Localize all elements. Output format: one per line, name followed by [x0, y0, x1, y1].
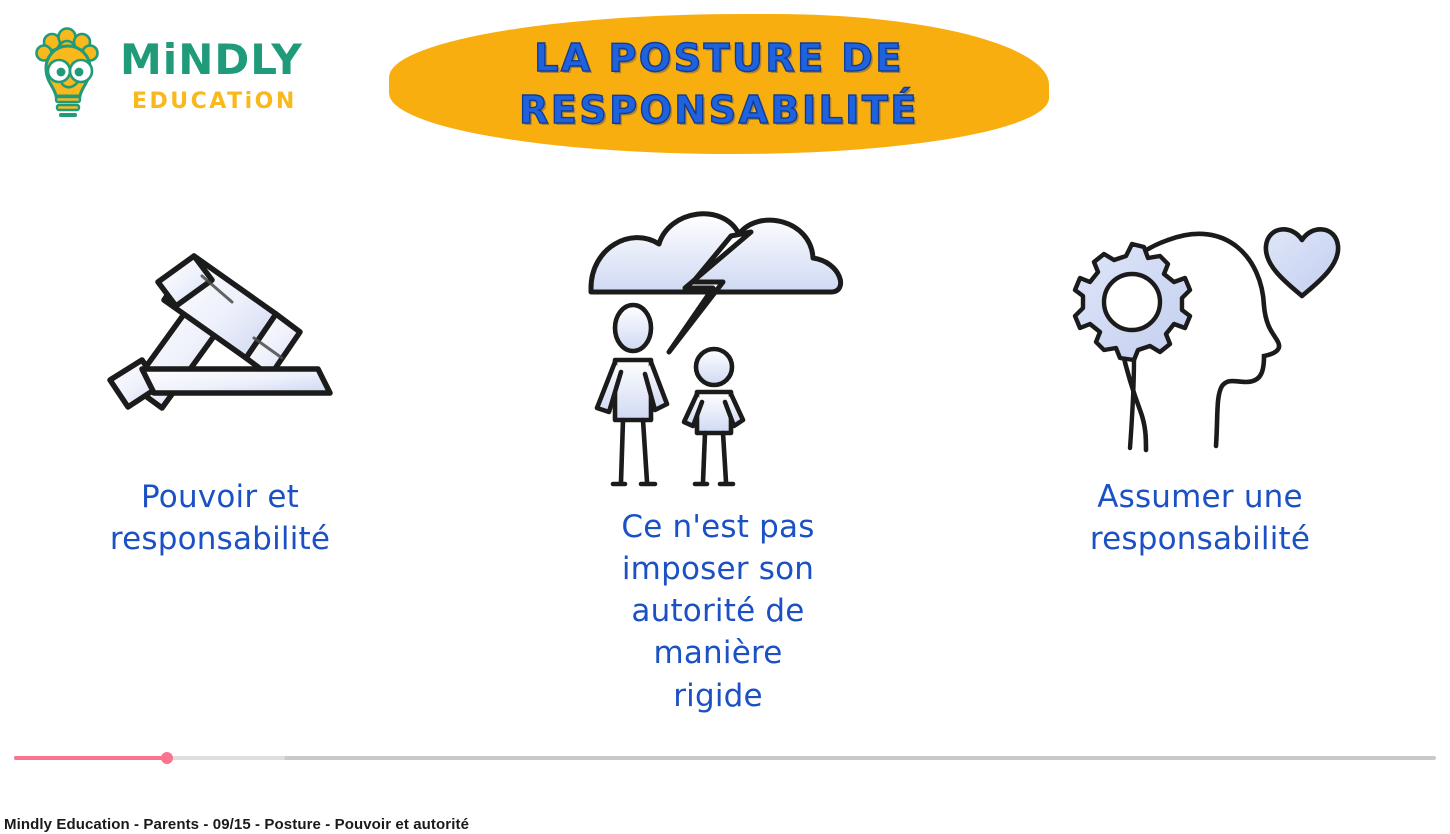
caption-line: Assumer une — [1090, 476, 1310, 518]
caption-line: autorité de — [621, 590, 814, 632]
storm-cloud-parent-child-icon — [573, 196, 863, 496]
caption-column-2: Ce n'est pas imposer son autorité de man… — [621, 506, 814, 717]
slide-canvas: MiNDLY EDUCATiON LA POSTURE DE RESPONSAB… — [0, 0, 1450, 748]
slide-title-banner: LA POSTURE DE RESPONSABiLiTÉ — [389, 14, 1049, 154]
gavel-icon — [90, 210, 350, 460]
video-title: Mindly Education - Parents - 09/15 - Pos… — [4, 816, 469, 833]
caption-column-1: Pouvoir et responsabilité — [110, 476, 330, 560]
caption-line: responsabilité — [1090, 518, 1310, 560]
lightbulb-mascot-icon — [22, 26, 118, 122]
video-player-controls: 0:36 / 5:31 — [0, 748, 1450, 814]
caption-line: manière — [621, 632, 814, 674]
mindly-education-logo: MiNDLY EDUCATiON — [22, 20, 322, 125]
mindly-wordmark: MiNDLY EDUCATiON — [120, 28, 320, 120]
app-root: MiNDLY EDUCATiON LA POSTURE DE RESPONSAB… — [0, 0, 1450, 834]
caption-column-3: Assumer une responsabilité — [1090, 476, 1310, 560]
caption-line: Pouvoir et — [110, 476, 330, 518]
progress-bar[interactable] — [14, 756, 1436, 760]
content-column-power-responsibility: Pouvoir et responsabilité — [10, 210, 430, 560]
content-column-not-rigid-authority: Ce n'est pas imposer son autorité de man… — [508, 196, 928, 717]
slide-title-line-1: LA POSTURE DE — [534, 35, 904, 81]
svg-text:MiNDLY: MiNDLY — [120, 35, 303, 84]
caption-line: imposer son — [621, 548, 814, 590]
head-gear-heart-icon — [1050, 210, 1350, 460]
caption-line: rigide — [621, 675, 814, 717]
content-column-assume-responsibility: Assumer une responsabilité — [990, 210, 1410, 560]
slide-title-line-2: RESPONSABiLiTÉ — [519, 87, 919, 133]
caption-line: responsabilité — [110, 518, 330, 560]
svg-text:EDUCATiON: EDUCATiON — [132, 89, 297, 114]
caption-line: Ce n'est pas — [621, 506, 814, 548]
progress-scrubber-handle[interactable] — [161, 752, 173, 764]
progress-played — [14, 756, 167, 760]
